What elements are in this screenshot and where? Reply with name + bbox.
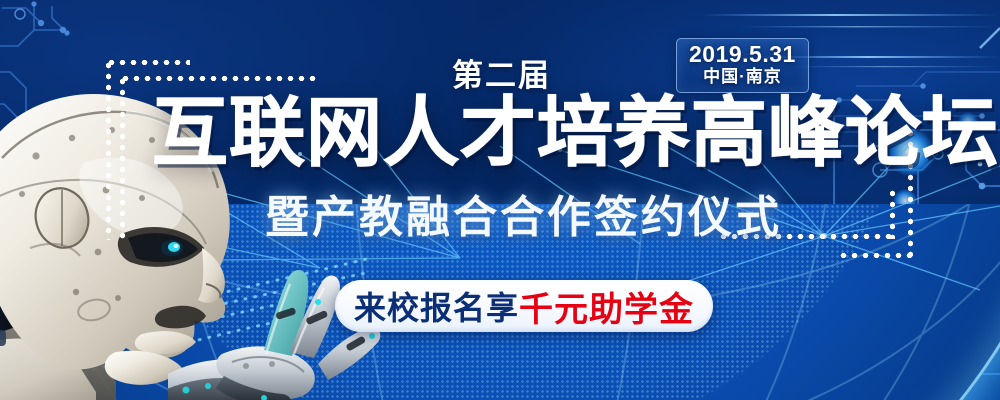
banner-content: 第二届 2019.5.31 中国·南京 互联网人才培养高峰论坛 暨产教融合合作签… bbox=[0, 0, 1000, 400]
page-subtitle: 暨产教融合合作签约仪式 bbox=[265, 196, 782, 240]
event-banner: 第二届 2019.5.31 中国·南京 互联网人才培养高峰论坛 暨产教融合合作签… bbox=[0, 0, 1000, 400]
promo-prefix-text: 来校报名享 bbox=[354, 283, 519, 329]
promo-highlight-text: 千元助学金 bbox=[519, 282, 694, 331]
page-title: 互联网人才培养高峰论坛 bbox=[152, 96, 999, 172]
edition-label: 第二届 bbox=[452, 50, 551, 95]
promo-pill[interactable]: 来校报名享 千元助学金 bbox=[335, 280, 713, 332]
event-date: 2019.5.31 bbox=[689, 43, 796, 67]
event-location: 中国·南京 bbox=[689, 67, 796, 86]
date-location-badge: 2019.5.31 中国·南京 bbox=[676, 38, 809, 93]
